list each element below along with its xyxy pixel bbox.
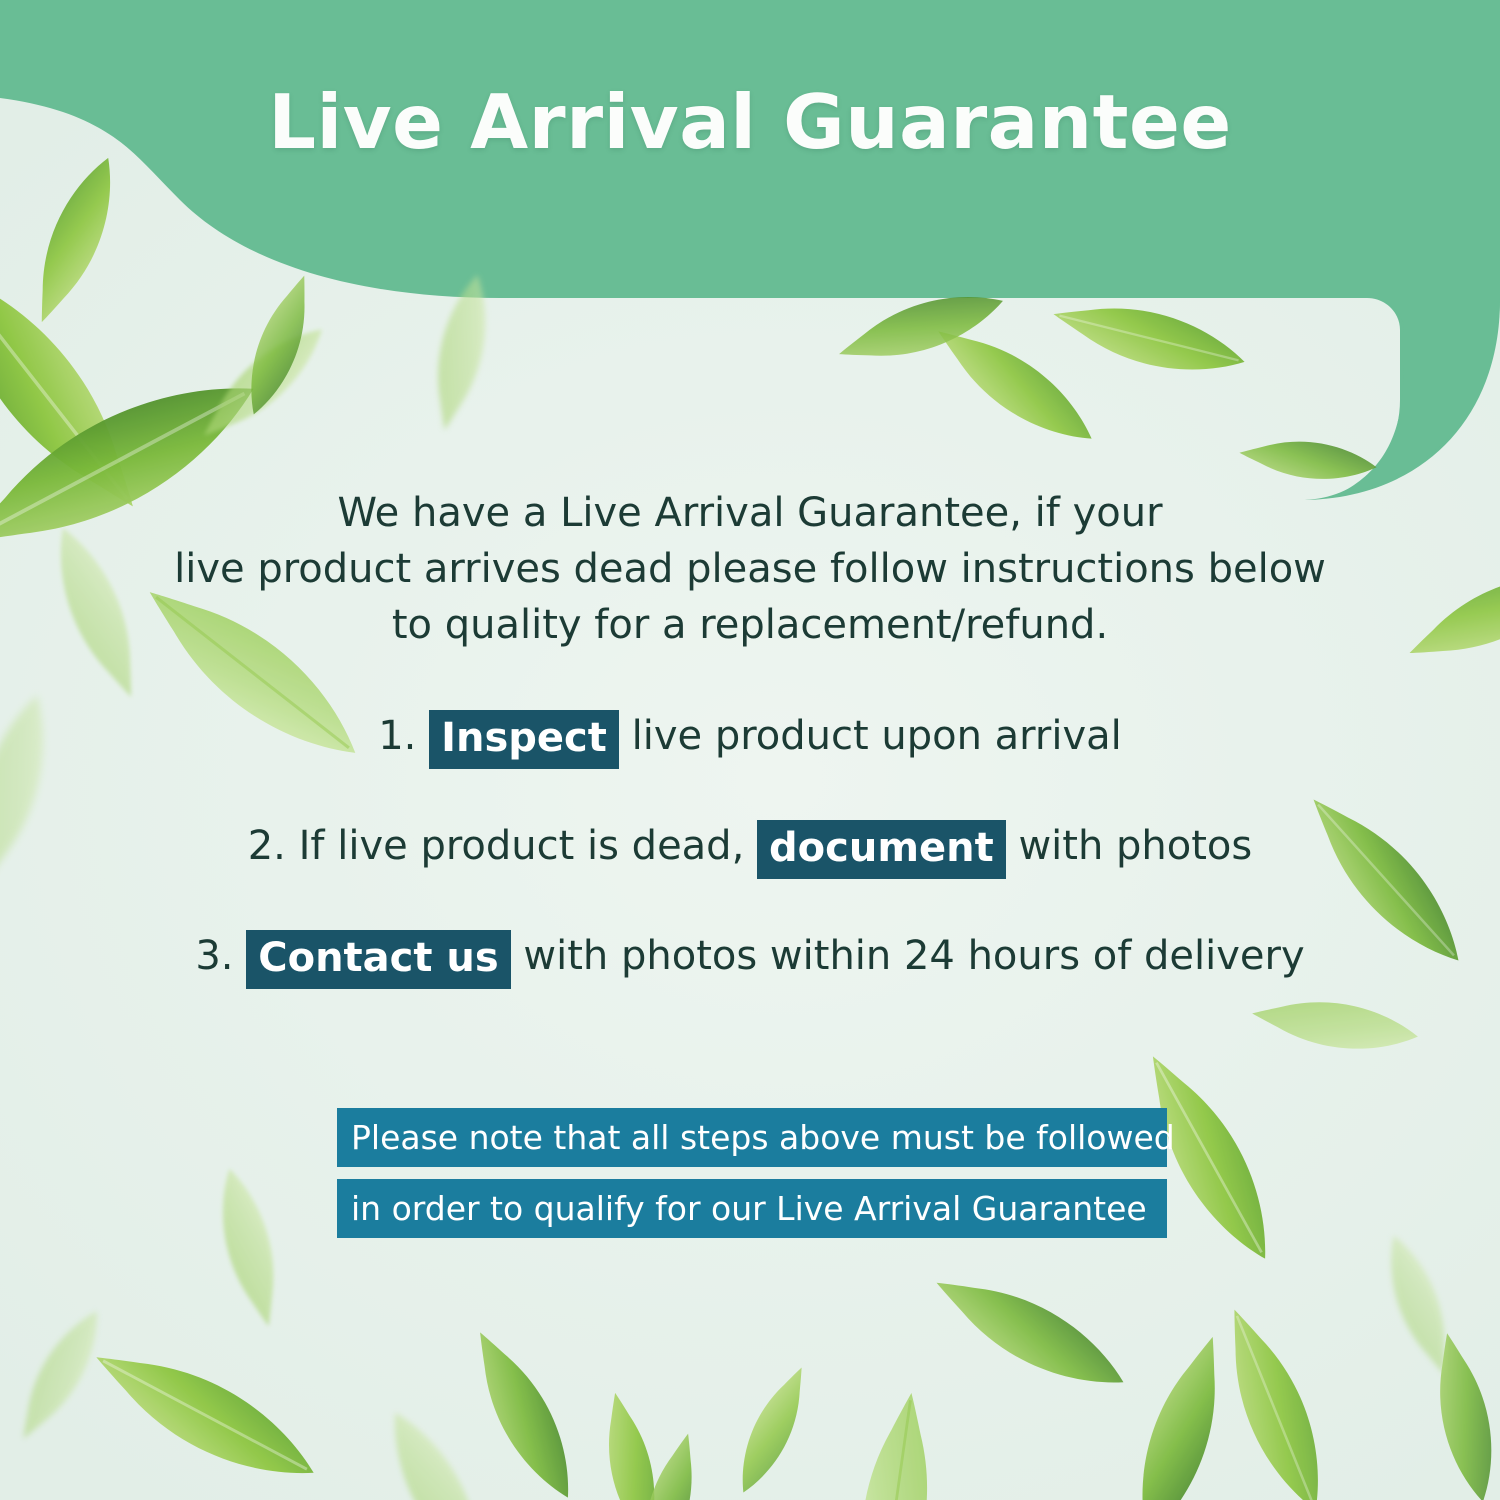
step-text-after: live product upon arrival [632, 713, 1122, 759]
step-item-3: 3. Contact us with photos within 24 hour… [0, 925, 1500, 987]
intro-line-2: live product arrives dead please follow … [150, 541, 1350, 597]
footer-note-line-1: Please note that all steps above must be… [337, 1108, 1167, 1167]
step-item-1: 1. Inspect live product upon arrival [0, 705, 1500, 767]
intro-paragraph: We have a Live Arrival Guarantee, if you… [150, 485, 1350, 653]
main-content: We have a Live Arrival Guarantee, if you… [0, 0, 1500, 1500]
step-highlight-document[interactable]: document [757, 820, 1006, 879]
step-text-before: If live product is dead, [299, 823, 745, 869]
live-arrival-guarantee-graphic: Live Arrival Guarantee We have a Live Ar… [0, 0, 1500, 1500]
step-number: 2. [248, 823, 286, 869]
step-highlight-contact-us[interactable]: Contact us [246, 930, 510, 989]
step-highlight-inspect[interactable]: Inspect [429, 710, 619, 769]
step-number: 1. [378, 713, 416, 759]
step-text-after: with photos [1018, 823, 1252, 869]
step-number: 3. [195, 933, 233, 979]
steps-list: 1. Inspect live product upon arrival 2. … [0, 705, 1500, 987]
step-text-after: with photos within 24 hours of delivery [523, 933, 1304, 979]
footer-note-line-2: in order to qualify for our Live Arrival… [337, 1179, 1167, 1238]
intro-line-1: We have a Live Arrival Guarantee, if you… [150, 485, 1350, 541]
step-item-2: 2. If live product is dead, document wit… [0, 815, 1500, 877]
intro-line-3: to quality for a replacement/refund. [150, 597, 1350, 653]
footer-note: Please note that all steps above must be… [337, 1108, 1167, 1238]
